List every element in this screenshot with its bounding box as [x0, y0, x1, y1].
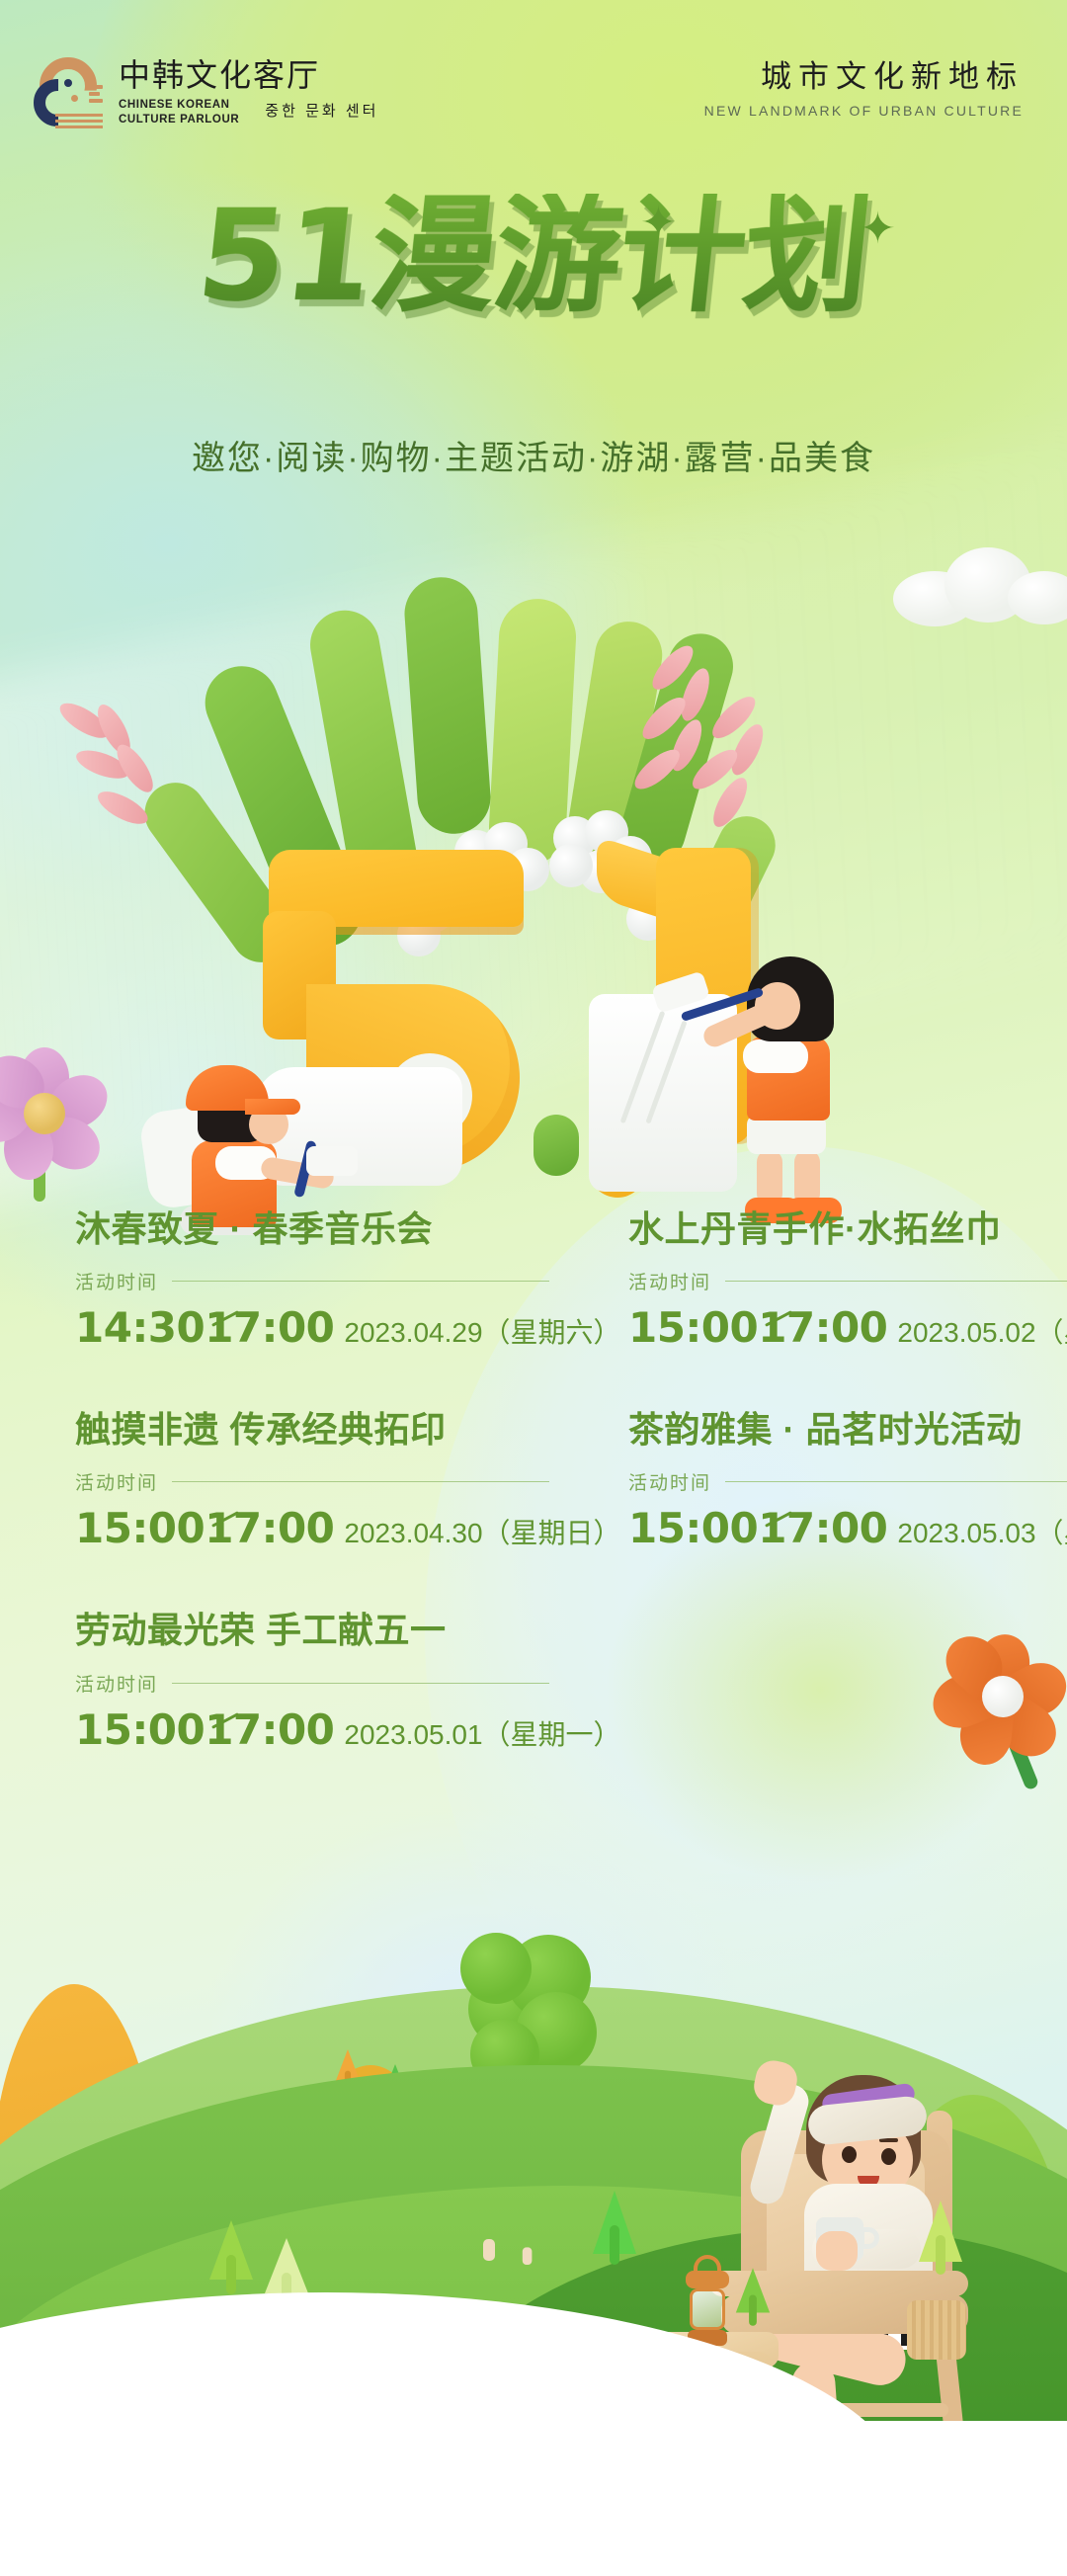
event-title: 茶韵雅集 · 品茗时光活动: [628, 1408, 1067, 1451]
event-card[interactable]: 水上丹青手作·水拓丝巾 活动时间 15:00 17:00 2023.05.02（…: [628, 1207, 1067, 1351]
brand-subtext: CHINESE KOREAN CULTURE PARLOUR 중한 문화 센터: [119, 98, 378, 127]
girl-eye: [881, 2148, 896, 2165]
event-time-meta: 活动时间: [628, 1268, 1067, 1294]
event-end-time: 17:00: [758, 1508, 887, 1549]
girl-eyebrow: [879, 2138, 898, 2142]
poster-canvas: 中韩文化客厅 CHINESE KOREAN CULTURE PARLOUR 중한…: [0, 0, 1067, 2576]
brand-name-cn: 中韩文化客厅: [119, 59, 378, 91]
culture-parlour-logo-icon: [34, 57, 105, 128]
brand-text-block: 中韩文化客厅 CHINESE KOREAN CULTURE PARLOUR 중한…: [119, 57, 378, 127]
mushroom-stem: [483, 2239, 495, 2261]
event-date: 2023.04.29（星期六）: [344, 1311, 620, 1351]
lantern-hood: [686, 2271, 729, 2288]
event-time-row: 15:00 17:00 2023.04.30（星期日）: [75, 1501, 549, 1551]
event-time-label: 活动时间: [75, 1268, 158, 1294]
event-title: 水上丹青手作·水拓丝巾: [628, 1207, 1067, 1250]
pine-trunk: [936, 2235, 945, 2275]
worker-right-sleeve: [743, 1039, 808, 1073]
brand-name-kr: 중한 문화 센터: [265, 98, 378, 121]
pine-tree: [384, 2056, 406, 2065]
event-time-meta: 活动时间: [75, 1268, 549, 1294]
event-divider-rule: [172, 1281, 549, 1282]
event-start-time: 15:00: [75, 1508, 205, 1549]
cactus-prop: [533, 1115, 579, 1176]
pine-tree: [265, 2221, 308, 2239]
mushroom-stem: [523, 2247, 533, 2265]
brand-name-en: CHINESE KOREAN CULTURE PARLOUR: [119, 98, 239, 127]
event-divider-rule: [725, 1481, 1067, 1482]
bottom-camping-scene: [0, 1739, 1067, 2576]
hero-title-wrap: 51漫游计划: [0, 194, 1067, 320]
event-start-time: 15:00: [628, 1307, 758, 1349]
cloud-decoration-right: [893, 541, 1067, 626]
worker-character-left: [158, 1055, 356, 1233]
event-time-label: 活动时间: [628, 1468, 711, 1495]
event-time-meta: 活动时间: [628, 1468, 1067, 1495]
pine-tree: [736, 2255, 770, 2269]
sparkle-icon-right: ✦: [860, 208, 896, 251]
pine-tree: [209, 2203, 253, 2221]
logo-stripes-icon: [55, 114, 103, 128]
foreground-white-base: [0, 2421, 1067, 2576]
event-divider-rule: [172, 1481, 549, 1482]
lantern-glass: [690, 2288, 725, 2330]
plant-stalk: [402, 575, 493, 837]
paint-roller-head: [306, 1146, 358, 1176]
event-card[interactable]: 劳动最光荣 手工献五一 活动时间 15:00 17:00 2023.05.01（…: [75, 1609, 549, 1752]
pine-tree: [593, 2174, 636, 2192]
logo-bars-icon: [89, 85, 103, 103]
event-end-time: 17:00: [205, 1307, 334, 1349]
page-title: 51漫游计划: [192, 194, 875, 320]
event-time-label: 活动时间: [628, 1268, 711, 1294]
pine-trunk: [749, 2295, 757, 2326]
event-time-row: 14:30 17:00 2023.04.29（星期六）: [75, 1300, 549, 1351]
brand-name-en-line2: CULTURE PARLOUR: [119, 113, 239, 127]
event-card[interactable]: 茶韵雅集 · 品茗时光活动 活动时间 15:00 17:00 2023.05.0…: [628, 1408, 1067, 1551]
logo-dot-navy: [64, 79, 72, 87]
event-time-label: 活动时间: [75, 1468, 158, 1495]
poster-header: 中韩文化客厅 CHINESE KOREAN CULTURE PARLOUR 중한…: [0, 0, 1067, 178]
pine-tree: [919, 2184, 962, 2202]
event-date: 2023.05.03（星期三）: [897, 1512, 1067, 1551]
event-end-time: 17:00: [205, 1508, 334, 1549]
woven-cup-holder: [907, 2300, 966, 2360]
event-title: 劳动最光荣 手工献五一: [75, 1609, 549, 1651]
event-card[interactable]: 沐春致夏 · 春季音乐会 活动时间 14:30 17:00 2023.04.29…: [75, 1207, 549, 1351]
event-date: 2023.05.02（星期二）: [897, 1311, 1067, 1351]
tagline-cn: 城市文化新地标: [704, 61, 1024, 92]
pine-trunk: [226, 2255, 236, 2294]
event-end-time: 17:00: [758, 1307, 887, 1349]
brand-name-en-line1: CHINESE KOREAN: [119, 98, 239, 113]
event-title: 沐春致夏 · 春季音乐会: [75, 1207, 549, 1250]
event-start-time: 14:30: [75, 1307, 205, 1349]
event-divider-rule: [172, 1683, 549, 1684]
pine-tree: [334, 2038, 361, 2049]
worker-character-right: [692, 956, 889, 1223]
event-row: 沐春致夏 · 春季音乐会 活动时间 14:30 17:00 2023.04.29…: [0, 1207, 1067, 1408]
girl-hand: [816, 2231, 858, 2271]
hero-subtitle: 邀您·阅读·购物·主题活动·游湖·露营·品美食: [0, 431, 1067, 479]
pine-trunk: [610, 2225, 619, 2265]
event-divider-rule: [725, 1281, 1067, 1282]
worker-right-shorts: [747, 1115, 826, 1154]
tagline-en: NEW LANDMARK OF URBAN CULTURE: [704, 103, 1024, 119]
event-time-label: 活动时间: [75, 1670, 158, 1697]
worker-left-cap-brim: [245, 1099, 300, 1115]
flower-center: [24, 1093, 65, 1134]
event-time-meta: 活动时间: [75, 1670, 549, 1697]
event-time-meta: 活动时间: [75, 1468, 549, 1495]
brand-lockup: 中韩文化客厅 CHINESE KOREAN CULTURE PARLOUR 중한…: [34, 57, 378, 128]
event-time-row: 15:00 17:00 2023.05.03（星期三）: [628, 1501, 1067, 1551]
event-row: 触摸非遗 传承经典拓印 活动时间 15:00 17:00 2023.04.30（…: [0, 1408, 1067, 1609]
event-card[interactable]: 触摸非遗 传承经典拓印 活动时间 15:00 17:00 2023.04.30（…: [75, 1408, 549, 1551]
event-start-time: 15:00: [628, 1508, 758, 1549]
pink-flower-decoration: [0, 1053, 103, 1170]
event-list: 沐春致夏 · 春季音乐会 活动时间 14:30 17:00 2023.04.29…: [0, 1207, 1067, 1810]
logo-dot-tan: [71, 95, 78, 102]
girl-eye: [842, 2146, 857, 2163]
event-time-row: 15:00 17:00 2023.05.02（星期二）: [628, 1300, 1067, 1351]
sparkle-icon-left: ✦: [640, 202, 677, 245]
event-title: 触摸非遗 传承经典拓印: [75, 1408, 549, 1451]
header-tagline: 城市文化新地标 NEW LANDMARK OF URBAN CULTURE: [704, 61, 1024, 119]
event-date: 2023.04.30（星期日）: [344, 1512, 620, 1551]
